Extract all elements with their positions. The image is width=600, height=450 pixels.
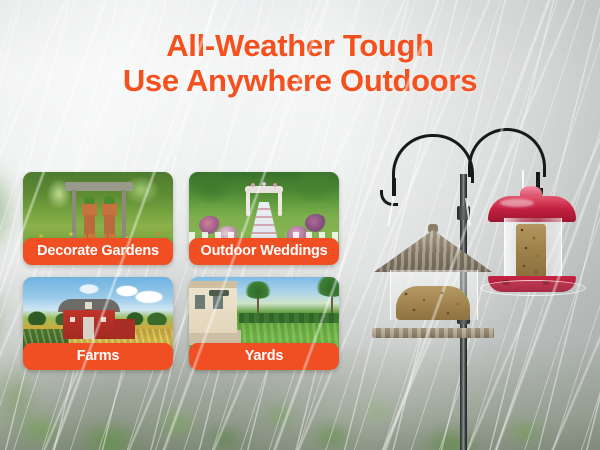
red-barn [61, 299, 117, 339]
use-case-card: Decorate Gardens [23, 172, 173, 265]
wooden-lantern-feeder [372, 224, 494, 348]
use-case-label: Outdoor Weddings [189, 238, 339, 265]
feeder-perch-ring [480, 280, 586, 296]
pergola-structure [71, 182, 127, 240]
use-case-grid: Decorate Gardens Outdoor Weddings [23, 172, 339, 370]
product-marketing-banner: All-Weather Tough Use Anywhere Outdoors [0, 0, 600, 450]
use-case-card: Yards [189, 277, 339, 370]
use-case-card: Outdoor Weddings [189, 172, 339, 265]
hook-arc-right [468, 128, 546, 177]
use-case-card: Farms [23, 277, 173, 370]
feeder-seed-fill [516, 224, 546, 278]
bird-feeder-pole [370, 118, 600, 450]
use-case-label: Farms [23, 343, 173, 370]
hook-arc-left [392, 134, 474, 183]
wedding-arch [245, 186, 283, 216]
headline: All-Weather Tough Use Anywhere Outdoors [0, 28, 600, 99]
feeder-base-tray [372, 328, 494, 338]
headline-line-2: Use Anywhere Outdoors [0, 63, 600, 98]
feeder-roof [374, 230, 492, 272]
house [189, 281, 237, 333]
red-tube-feeder [482, 188, 582, 318]
use-case-label: Yards [189, 343, 339, 370]
headline-line-1: All-Weather Tough [0, 28, 600, 63]
hook-curl-left [380, 190, 398, 206]
use-case-label: Decorate Gardens [23, 238, 173, 265]
feeder-seed-fill [396, 286, 470, 320]
